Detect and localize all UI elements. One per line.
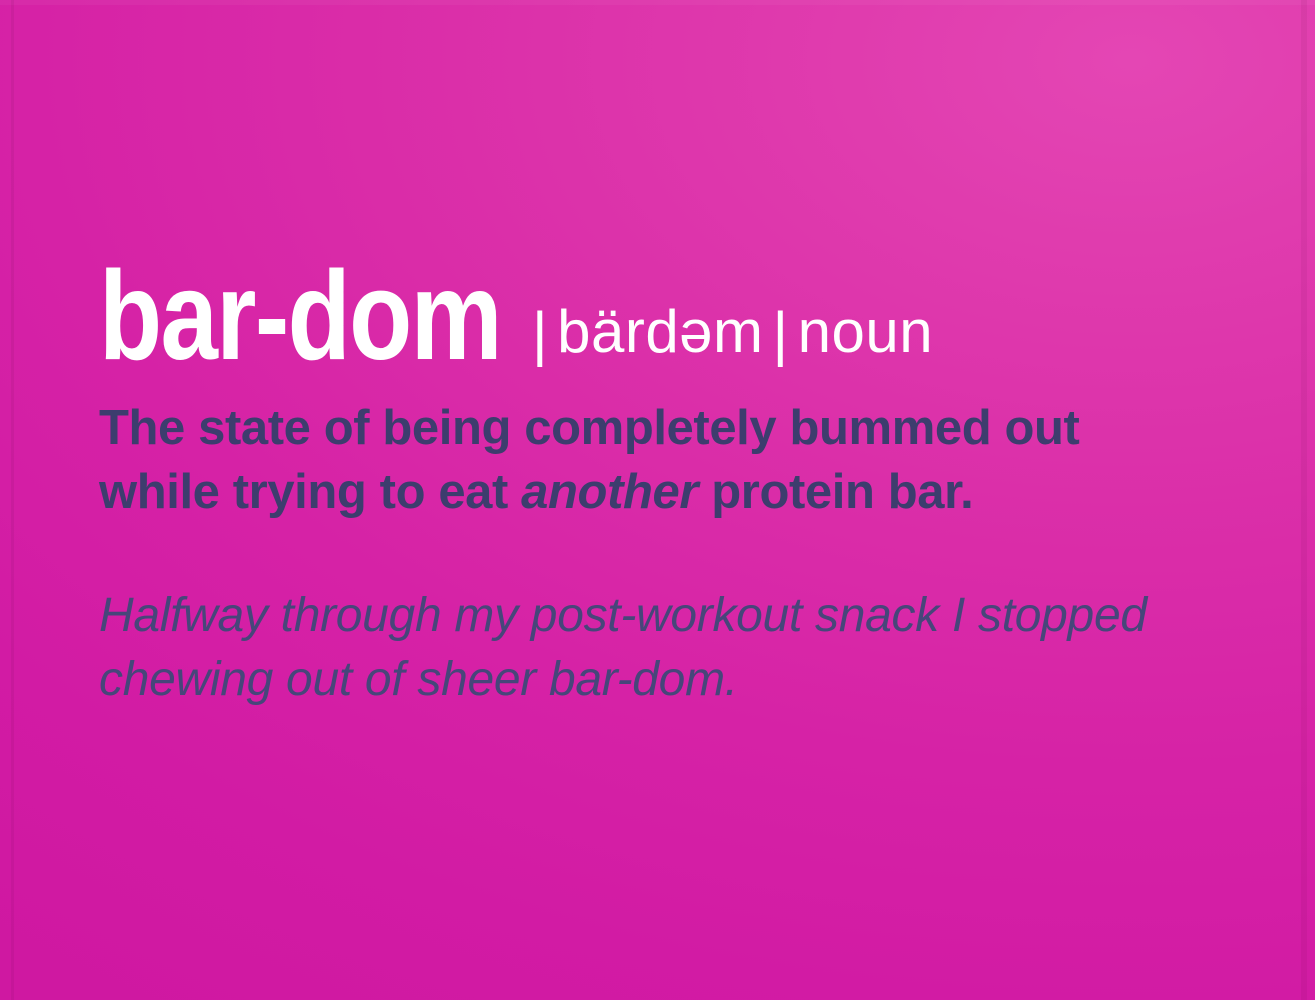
- pronunciation-open-divider: |: [523, 300, 557, 367]
- pronunciation-mid-divider: |: [764, 300, 798, 367]
- pronunciation-respelling: bärdəm: [557, 298, 763, 365]
- headword-row: bar-dom |bärdəm|noun: [99, 263, 1229, 369]
- headword: bar-dom: [99, 263, 501, 369]
- definition-emphasis: another: [521, 465, 698, 519]
- top-edge-artifact: [0, 0, 1315, 5]
- definition-segment-2: protein bar.: [698, 465, 973, 519]
- example-sentence: Halfway through my post-workout snack I …: [99, 584, 1224, 711]
- part-of-speech: noun: [798, 298, 933, 365]
- pronunciation-block: |bärdəm|noun: [523, 302, 933, 362]
- right-edge-artifact: [1301, 0, 1307, 1000]
- definition-text: The state of being completely bummed out…: [99, 396, 1199, 524]
- left-edge-artifact: [11, 0, 14, 1000]
- card-content: bar-dom |bärdəm|noun The state of being …: [99, 263, 1229, 711]
- definition-card: bar-dom |bärdəm|noun The state of being …: [0, 0, 1315, 1000]
